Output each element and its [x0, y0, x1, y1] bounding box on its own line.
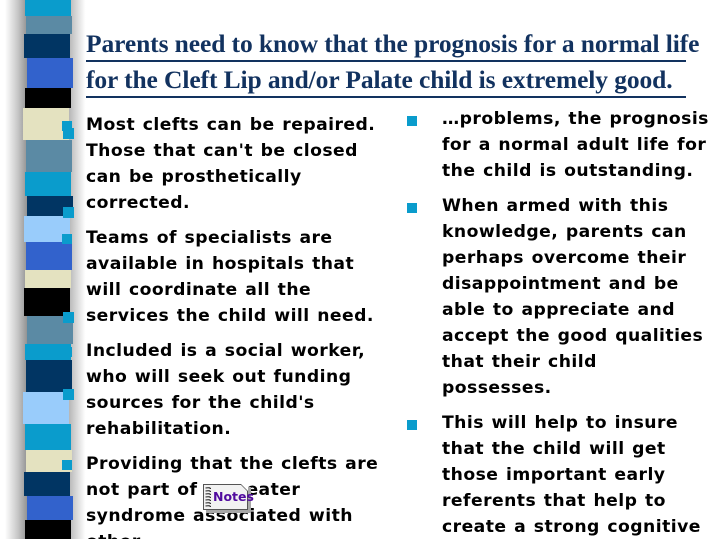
list-item: …problems, the prognosis for a normal ad…	[405, 106, 710, 184]
stripe-band	[25, 88, 71, 108]
square-bullet-icon	[62, 460, 72, 470]
page-title-line-1: Parents need to know that the prognosis …	[86, 28, 686, 62]
list-item-text: …problems, the prognosis for a normal ad…	[442, 106, 710, 184]
stripe-shadow-left	[0, 0, 28, 539]
notes-button-label: Notes	[213, 488, 247, 505]
square-bullet-icon	[62, 121, 72, 131]
list-item: When armed with this knowledge, parents …	[405, 193, 710, 401]
stripe-band	[25, 0, 71, 16]
notes-button[interactable]: Notes	[203, 484, 248, 510]
stripe-band	[24, 34, 70, 58]
page-title: Parents need to know that the prognosis …	[86, 28, 686, 98]
list-item: Teams of specialists are available in ho…	[62, 225, 392, 329]
list-item-text: This will help to insure that the child …	[442, 410, 710, 539]
page-title-line-2: for the Cleft Lip and/or Palate child is…	[86, 64, 686, 98]
list-item: Included is a social worker, who will se…	[62, 338, 392, 442]
left-bullet-column: Most clefts can be repaired. Those that …	[62, 112, 392, 539]
square-bullet-icon	[407, 203, 417, 213]
square-bullet-icon	[407, 116, 417, 126]
list-item-text: When armed with this knowledge, parents …	[442, 193, 710, 401]
spiral-binding-icon	[205, 486, 212, 510]
list-item-text: Teams of specialists are available in ho…	[86, 225, 392, 329]
square-bullet-icon	[62, 234, 72, 244]
list-item: Most clefts can be repaired. Those that …	[62, 112, 392, 216]
slide-canvas: Parents need to know that the prognosis …	[0, 0, 719, 539]
list-item: This will help to insure that the child …	[405, 410, 710, 539]
stripe-band	[27, 58, 73, 88]
stripe-band	[26, 16, 72, 34]
list-item-text: Included is a social worker, who will se…	[86, 338, 392, 442]
list-item-text: Most clefts can be repaired. Those that …	[86, 112, 392, 216]
square-bullet-icon	[407, 420, 417, 430]
right-bullet-column: …problems, the prognosis for a normal ad…	[405, 106, 710, 539]
square-bullet-icon	[62, 347, 72, 357]
